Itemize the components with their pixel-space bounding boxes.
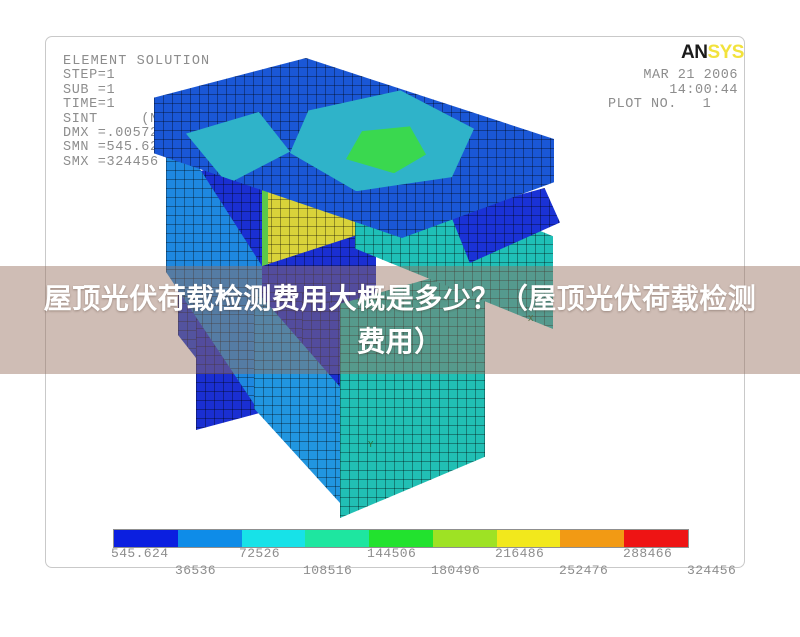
colorbar-label-2: 72526 bbox=[239, 546, 280, 561]
logo-text-an: AN bbox=[681, 42, 707, 63]
stress-colorbar-labels: 545.624365367252610851614450618049621648… bbox=[100, 546, 720, 582]
colorbar-label-3: 108516 bbox=[303, 563, 352, 578]
colorbar-label-7: 252476 bbox=[559, 563, 608, 578]
info-line-smx: SMX =324456 bbox=[63, 155, 159, 170]
colorbar-band-0 bbox=[114, 530, 178, 547]
info-line-sub: SUB =1 bbox=[63, 83, 115, 98]
colorbar-band-8 bbox=[624, 530, 688, 547]
colorbar-band-5 bbox=[433, 530, 497, 547]
caption-text: 屋顶光伏荷载检测费用大概是多少？（屋顶光伏荷载检测费用） bbox=[40, 277, 760, 363]
colorbar-label-0: 545.624 bbox=[111, 546, 168, 561]
colorbar-band-7 bbox=[560, 530, 624, 547]
colorbar-label-1: 36536 bbox=[175, 563, 216, 578]
colorbar-label-8: 288466 bbox=[623, 546, 672, 561]
plot-date: MAR 21 2006 bbox=[608, 69, 738, 84]
colorbar-band-4 bbox=[369, 530, 433, 547]
info-line-time: TIME=1 bbox=[63, 97, 115, 112]
axis-marker-y: Y bbox=[368, 441, 373, 450]
caption-overlay-band: 屋顶光伏荷载检测费用大概是多少？（屋顶光伏荷载检测费用） bbox=[0, 266, 800, 374]
colorbar-band-3 bbox=[305, 530, 369, 547]
colorbar-label-6: 216486 bbox=[495, 546, 544, 561]
colorbar-band-2 bbox=[242, 530, 306, 547]
colorbar-label-9: 324456 bbox=[687, 563, 736, 578]
colorbar-band-6 bbox=[497, 530, 561, 547]
plot-number: PLOT NO. 1 bbox=[608, 98, 738, 113]
colorbar-label-4: 144506 bbox=[367, 546, 416, 561]
info-line-step: STEP=1 bbox=[63, 68, 115, 83]
ansys-logo: ANSYS bbox=[681, 43, 744, 62]
colorbar-band-1 bbox=[178, 530, 242, 547]
plot-meta-block: MAR 21 200614:00:44PLOT NO. 1 bbox=[608, 69, 738, 113]
logo-text-sys: SYS bbox=[707, 42, 744, 63]
colorbar-label-5: 180496 bbox=[431, 563, 480, 578]
plot-time: 14:00:44 bbox=[608, 84, 738, 99]
